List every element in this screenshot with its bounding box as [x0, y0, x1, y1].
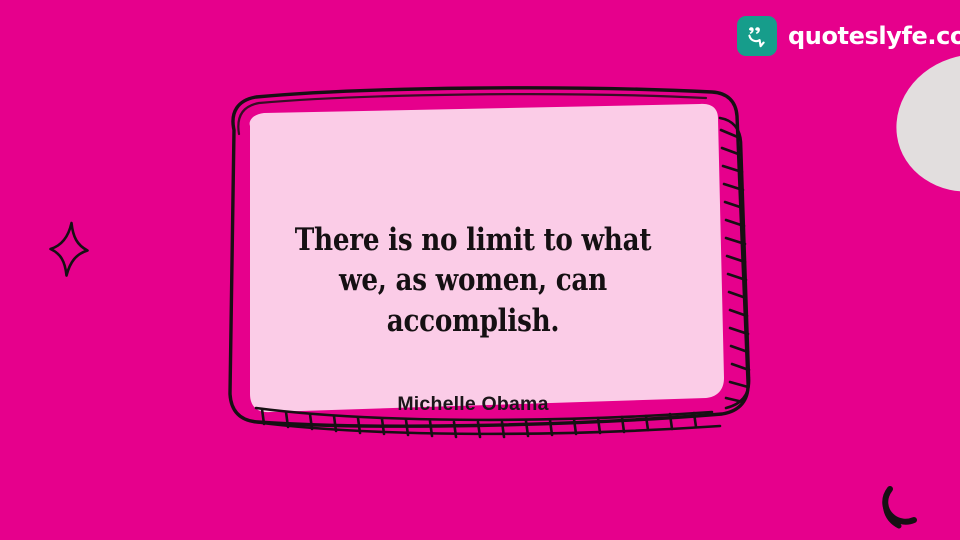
brand-watermark[interactable]: quoteslyfe.com: [737, 16, 960, 56]
quote-smiley-glyph: [743, 22, 771, 50]
quote-card: There is no limit to what we, as women, …: [212, 82, 782, 450]
card-content: There is no limit to what we, as women, …: [234, 112, 712, 412]
brand-name: quoteslyfe.com: [788, 22, 960, 50]
quote-text: There is no limit to what we, as women, …: [271, 220, 675, 341]
crescent-icon: [876, 484, 922, 532]
quote-smiley-icon: [737, 16, 777, 56]
quote-graphic-canvas: There is no limit to what we, as women, …: [0, 0, 960, 540]
blob-decoration: [887, 47, 960, 201]
right-edge-hatching: [720, 118, 749, 408]
sparkle-icon: [46, 220, 92, 278]
quote-author: Michelle Obama: [397, 393, 548, 416]
